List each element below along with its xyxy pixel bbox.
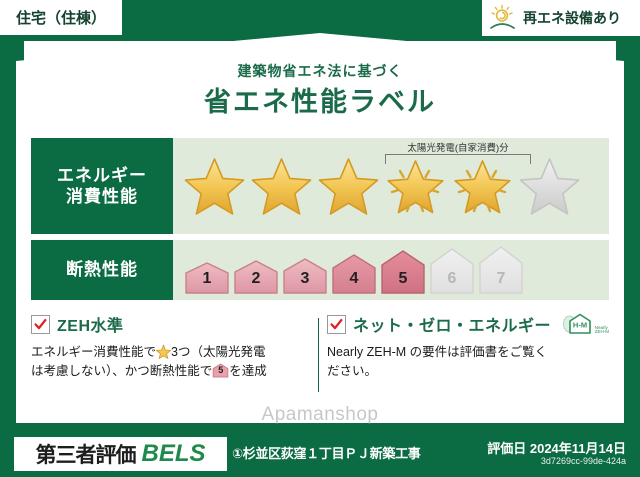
zeh-m-caption-2: ZEH-M — [595, 329, 609, 334]
bels-jp-label: 第三者評価 — [35, 439, 135, 469]
star-empty-6 — [516, 154, 583, 218]
net-zero-energy-title: ネット・ゼロ・エネルギー — [353, 312, 551, 336]
zeh-standard-description: エネルギー消費性能で 3つ（太陽光発電 は考慮しない）、かつ断熱性能で 5 を達… — [31, 343, 309, 382]
star-filled-2 — [248, 154, 315, 218]
insulation-house-3: 3 — [281, 256, 329, 294]
zeh-m-logo-caption: Nearly ZEH-M — [595, 326, 609, 335]
renewable-energy-sun-icon — [488, 4, 518, 32]
energy-consumption-label-line2: 消費性能 — [66, 186, 138, 207]
evaluation-id: 3d7269cc-99de-424a — [541, 456, 626, 466]
building-type-label: 住宅（住棟） — [16, 7, 106, 28]
label-subtitle: 建築物省エネ法に基づく — [0, 61, 640, 81]
insulation-house-1: 1 — [183, 260, 231, 294]
page-title: 省エネ性能ラベル — [0, 80, 640, 119]
energy-consumption-row: エネルギー 消費性能 太陽光発電(自家消費)分 — [31, 138, 609, 234]
zeh-standard-title: ZEH水準 — [57, 312, 124, 336]
net-zero-energy-description: Nearly ZEH-M の要件は評価書をご覧く ださい。 — [327, 343, 609, 382]
insulation-house-scale: 1 2 3 — [173, 240, 609, 300]
zeh-desc-part-4: を達成 — [229, 364, 267, 378]
mini-star-icon — [156, 344, 171, 359]
evaluation-date: 評価日 2024年11月14日 — [487, 438, 626, 457]
nze-desc-line-2: ださい。 — [327, 364, 377, 378]
insulation-house-7: 7 — [477, 244, 525, 294]
zeh-standard-block: ZEH水準 エネルギー消費性能で 3つ（太陽光発電 は考慮しない）、かつ断熱性能… — [31, 312, 309, 382]
insulation-level-number: 4 — [330, 270, 378, 288]
star-filled-1 — [181, 154, 248, 218]
footer-bar: 第三者評価 BELS ①杉並区荻窪１丁目ＰＪ新築工事 評価日 2024年11月1… — [0, 430, 640, 477]
mini-house-level: 5 — [212, 364, 229, 378]
insulation-performance-label: 断熱性能 — [31, 240, 173, 300]
zeh-desc-part-3: は考慮しない）、かつ断熱性能で — [31, 364, 212, 378]
insulation-level-number: 7 — [477, 270, 525, 288]
mini-house-badge-icon: 5 — [212, 363, 229, 378]
star-rating — [173, 138, 609, 234]
insulation-level-number: 3 — [281, 270, 329, 288]
insulation-level-number: 2 — [232, 270, 280, 288]
nze-desc-line-1: Nearly ZEH-M の要件は評価書をご覧く — [327, 345, 547, 359]
zeh-standard-checkbox[interactable] — [31, 315, 50, 334]
project-name: ①杉並区荻窪１丁目ＰＪ新築工事 — [232, 443, 421, 462]
insulation-performance-row: 断熱性能 1 2 — [31, 240, 609, 300]
insulation-house-4: 4 — [330, 252, 378, 294]
energy-consumption-label-line1: エネルギー — [57, 165, 147, 186]
insulation-level-number: 6 — [428, 270, 476, 288]
building-type-badge: 住宅（住棟） — [0, 0, 122, 35]
zeh-desc-part-2: 3つ（太陽光発電 — [171, 345, 265, 359]
star-filled-solar-5 — [449, 154, 516, 218]
insulation-house-6: 6 — [428, 246, 476, 294]
zeh-standard-header: ZEH水準 — [31, 312, 309, 336]
renewable-energy-label: 再エネ設備あり — [523, 8, 621, 28]
star-filled-3 — [315, 154, 382, 218]
insulation-label-text: 断熱性能 — [66, 259, 138, 280]
insulation-house-5: 5 — [379, 248, 427, 294]
bels-en-label: BELS — [141, 440, 205, 468]
zeh-desc-part-1: エネルギー消費性能で — [31, 345, 156, 359]
insulation-level-number: 1 — [183, 270, 231, 288]
energy-performance-label: 住宅（住棟） 再エネ設備あり 建築物省エネ法に基づく 省エネ性能ラベル — [0, 0, 640, 477]
net-zero-energy-checkbox[interactable] — [327, 315, 346, 334]
zeh-m-logo-text: H-M — [573, 321, 587, 330]
watermark: Apamanshop — [0, 404, 640, 426]
star-filled-solar-4 — [382, 154, 449, 218]
zeh-block-divider — [318, 318, 319, 392]
renewable-energy-badge: 再エネ設備あり — [482, 0, 640, 36]
net-zero-energy-block: ネット・ゼロ・エネルギー H-M Nearly ZEH-M Nearly ZEH… — [327, 312, 609, 382]
insulation-level-number: 5 — [379, 270, 427, 288]
insulation-house-2: 2 — [232, 258, 280, 294]
energy-consumption-label: エネルギー 消費性能 — [31, 138, 173, 234]
net-zero-energy-header: ネット・ゼロ・エネルギー H-M Nearly ZEH-M — [327, 312, 609, 336]
bels-badge: 第三者評価 BELS — [14, 437, 227, 471]
insulation-rating: 1 2 3 — [173, 240, 609, 300]
nearly-zeh-m-logo-icon: H-M Nearly ZEH-M — [561, 312, 607, 336]
energy-consumption-rating: 太陽光発電(自家消費)分 — [173, 138, 609, 234]
